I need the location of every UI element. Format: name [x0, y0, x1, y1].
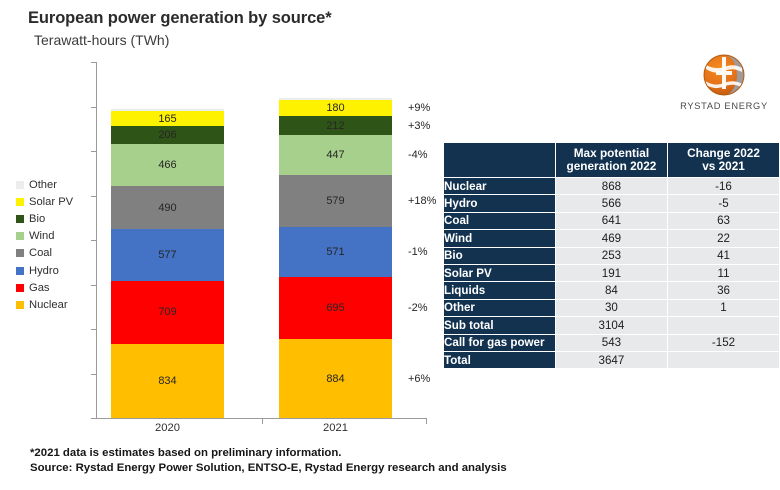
x-axis-tick-label: 2021	[279, 422, 392, 434]
change-label-bio: +3%	[408, 120, 430, 132]
cell-change: 41	[668, 247, 780, 264]
bar-segment-solar-pv: 165	[111, 111, 224, 126]
cell-max-potential: 253	[555, 247, 667, 264]
y-axis-tick-mark	[91, 196, 96, 197]
table-row: Coal64163	[444, 212, 780, 229]
cell-max-potential: 469	[555, 230, 667, 247]
legend-label: Nuclear	[29, 299, 68, 311]
y-axis-tick-mark	[91, 240, 96, 241]
legend-swatch-icon	[16, 249, 24, 257]
legend-swatch-icon	[16, 267, 24, 275]
table-row: Wind46922	[444, 230, 780, 247]
legend-label: Gas	[29, 282, 50, 294]
cell-max-potential: 3647	[555, 351, 667, 368]
row-label: Coal	[444, 212, 556, 229]
row-label: Nuclear	[444, 178, 556, 195]
cell-max-potential: 84	[555, 282, 667, 299]
legend-swatch-icon	[16, 181, 24, 189]
table-corner-cell	[444, 143, 556, 178]
bar-segment-nuclear: 834	[111, 344, 224, 418]
bar-segment-gas: 695	[279, 277, 392, 339]
legend-swatch-icon	[16, 232, 24, 240]
legend-label: Wind	[29, 230, 55, 242]
table-row: Bio25341	[444, 247, 780, 264]
cell-max-potential: 566	[555, 195, 667, 212]
bar-segment-coal: 579	[279, 175, 392, 227]
globe-icon	[700, 52, 748, 100]
change-label-wind: -4%	[408, 149, 428, 161]
bar-2021: 884695571579447212180	[279, 62, 392, 418]
change-label-gas: -2%	[408, 302, 428, 314]
legend-item-solar-pv[interactable]: Solar PV	[16, 193, 90, 210]
column-header-change: Change 2022 vs 2021	[668, 143, 780, 178]
segment-value-label: 884	[326, 373, 344, 385]
row-label: Sub total	[444, 317, 556, 334]
chart-legend: OtherSolar PVBioWindCoalHydroGasNuclear	[16, 176, 90, 314]
cell-change: 1	[668, 299, 780, 316]
legend-item-coal[interactable]: Coal	[16, 245, 90, 262]
legend-item-hydro[interactable]: Hydro	[16, 262, 90, 279]
segment-value-label: 466	[158, 159, 176, 171]
y-axis-tick-mark	[91, 329, 96, 330]
legend-swatch-icon	[16, 301, 24, 309]
y-axis-tick-mark	[91, 285, 96, 286]
bar-segment-bio: 206	[111, 126, 224, 144]
legend-item-other[interactable]: Other	[16, 176, 90, 193]
bar-segment-gas: 709	[111, 281, 224, 344]
legend-label: Solar PV	[29, 196, 73, 208]
cell-max-potential: 3104	[555, 317, 667, 334]
bar-segment-hydro: 571	[279, 227, 392, 278]
row-label: Other	[444, 299, 556, 316]
table-row: Nuclear868-16	[444, 178, 780, 195]
rystad-energy-logo: RYSTAD ENERGY	[676, 52, 772, 118]
legend-swatch-icon	[16, 215, 24, 223]
x-axis-tick	[426, 418, 427, 424]
x-axis-tick	[262, 418, 263, 424]
y-axis-tick-mark	[91, 151, 96, 152]
bar-segment-wind: 466	[111, 144, 224, 185]
cell-change: 11	[668, 264, 780, 281]
table-row: Hydro566-5	[444, 195, 780, 212]
y-axis-tick-mark	[91, 107, 96, 108]
segment-value-label: 212	[326, 120, 344, 132]
y-axis-tick-mark	[91, 374, 96, 375]
legend-label: Other	[29, 179, 57, 191]
segment-value-label: 577	[158, 249, 176, 261]
bar-segment-bio: 212	[279, 116, 392, 135]
legend-label: Hydro	[29, 265, 59, 277]
row-label: Hydro	[444, 195, 556, 212]
bar-segment-nuclear: 884	[279, 339, 392, 418]
legend-label: Coal	[29, 247, 52, 259]
segment-value-label: 165	[158, 113, 176, 125]
change-label-solar-pv: +9%	[408, 102, 430, 114]
table-row: Sub total3104	[444, 317, 780, 334]
cell-change	[668, 317, 780, 334]
table-body: Nuclear868-16Hydro566-5Coal64163Wind4692…	[444, 178, 780, 369]
segment-value-label: 579	[326, 195, 344, 207]
bar-segment-hydro: 577	[111, 229, 224, 280]
table-row: Other301	[444, 299, 780, 316]
cell-max-potential: 641	[555, 212, 667, 229]
row-label: Bio	[444, 247, 556, 264]
summary-table: Max potential generation 2022 Change 202…	[443, 142, 780, 369]
table-row: Liquids8436	[444, 282, 780, 299]
bar-segment-wind: 447	[279, 135, 392, 175]
segment-value-label: 490	[158, 202, 176, 214]
segment-value-label: 206	[158, 129, 176, 141]
cell-change: 36	[668, 282, 780, 299]
cell-max-potential: 543	[555, 334, 667, 351]
y-axis-tick-mark	[91, 418, 96, 419]
legend-item-bio[interactable]: Bio	[16, 210, 90, 227]
cell-change: -5	[668, 195, 780, 212]
cell-change: 63	[668, 212, 780, 229]
cell-max-potential: 30	[555, 299, 667, 316]
segment-value-label: 834	[158, 375, 176, 387]
legend-item-gas[interactable]: Gas	[16, 279, 90, 296]
legend-swatch-icon	[16, 198, 24, 206]
column-header-line2: generation 2022	[559, 160, 664, 173]
segment-value-label: 709	[158, 306, 176, 318]
change-label-nuclear: +6%	[408, 373, 430, 385]
table-header-row: Max potential generation 2022 Change 202…	[444, 143, 780, 178]
table-row: Total3647	[444, 351, 780, 368]
bar-2020: 834709577490466206165	[111, 62, 224, 418]
row-label: Call for gas power	[444, 334, 556, 351]
bar-segment-coal: 490	[111, 186, 224, 230]
row-label: Liquids	[444, 282, 556, 299]
cell-change: 22	[668, 230, 780, 247]
bar-segment-other	[279, 98, 392, 101]
segment-value-label: 447	[326, 149, 344, 161]
column-header-max-potential: Max potential generation 2022	[555, 143, 667, 178]
segment-value-label: 180	[326, 102, 344, 114]
bar-segment-other	[111, 109, 224, 112]
cell-change	[668, 351, 780, 368]
row-label: Wind	[444, 230, 556, 247]
legend-label: Bio	[29, 213, 45, 225]
change-label-coal: +18%	[408, 195, 436, 207]
column-header-line2: vs 2021	[671, 160, 776, 173]
cell-change: -16	[668, 178, 780, 195]
row-label: Solar PV	[444, 264, 556, 281]
x-axis-tick-label: 2020	[111, 422, 224, 434]
cell-max-potential: 868	[555, 178, 667, 195]
segment-value-label: 695	[326, 302, 344, 314]
legend-item-wind[interactable]: Wind	[16, 228, 90, 245]
segment-value-label: 571	[326, 246, 344, 258]
y-axis-line	[96, 62, 97, 418]
table-row: Solar PV19111	[444, 264, 780, 281]
footnote-estimates: *2021 data is estimates based on prelimi…	[30, 446, 507, 461]
legend-item-nuclear[interactable]: Nuclear	[16, 296, 90, 313]
y-axis-tick-mark	[91, 62, 96, 63]
cell-change: -152	[668, 334, 780, 351]
table-row: Call for gas power543-152	[444, 334, 780, 351]
bar-segment-solar-pv: 180	[279, 100, 392, 116]
cell-max-potential: 191	[555, 264, 667, 281]
change-label-hydro: -1%	[408, 246, 428, 258]
legend-swatch-icon	[16, 284, 24, 292]
footnote-source: Source: Rystad Energy Power Solution, EN…	[30, 461, 507, 476]
row-label: Total	[444, 351, 556, 368]
logo-wordmark: RYSTAD ENERGY	[676, 101, 772, 111]
footnotes: *2021 data is estimates based on prelimi…	[30, 446, 507, 476]
